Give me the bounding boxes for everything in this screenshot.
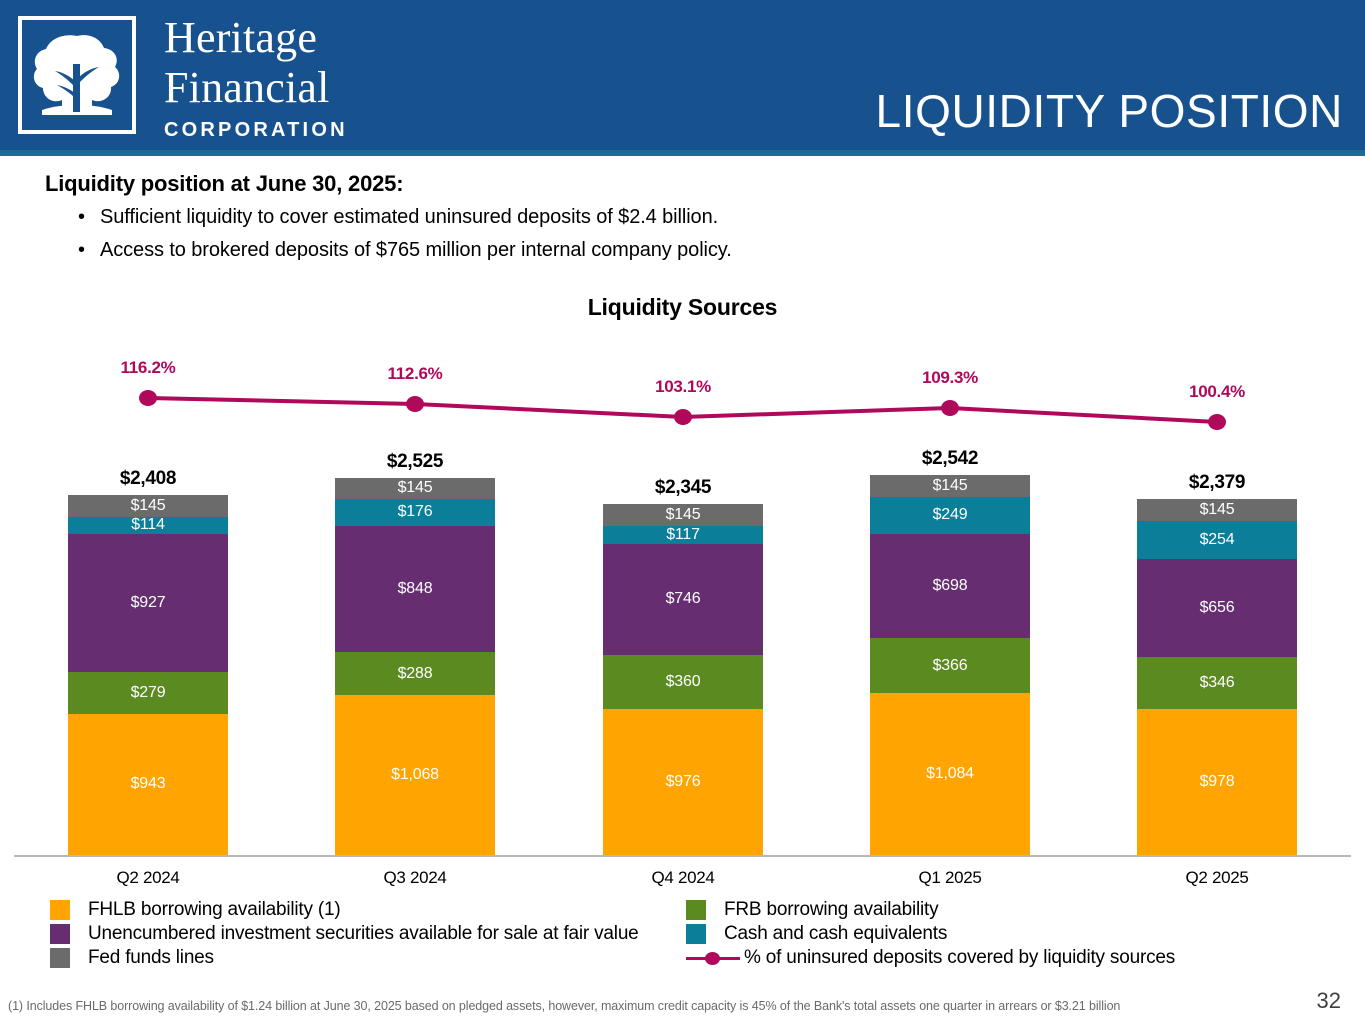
bar-segment[interactable]: $145 [68, 495, 228, 517]
percent-data-label: 109.3% [922, 368, 978, 388]
legend-item[interactable]: Unencumbered investment securities avail… [50, 922, 639, 945]
bar-segment-label: $254 [1200, 531, 1235, 549]
brand-subtitle: CORPORATION [164, 119, 348, 142]
bar-segment[interactable]: $943 [68, 714, 228, 855]
bar-segment-label: $360 [666, 673, 701, 691]
bar-segment[interactable]: $249 [870, 497, 1030, 534]
bar-segment-label: $145 [1200, 501, 1235, 519]
bar-segment[interactable]: $288 [335, 652, 495, 695]
bar-segment[interactable]: $254 [1137, 521, 1297, 559]
bar-segment-label: $279 [131, 684, 166, 702]
bar-segment-label: $746 [666, 590, 701, 608]
x-axis-tick-label: Q4 2024 [593, 868, 773, 888]
page-number: 32 [1317, 988, 1341, 1014]
percent-line-marker[interactable] [674, 409, 692, 425]
legend-item[interactable]: FRB borrowing availability [686, 898, 1175, 921]
percent-line-marker[interactable] [1208, 414, 1226, 430]
bar-total-label: $2,379 [1137, 472, 1297, 494]
bar-stack[interactable]: $2,525$145$176$848$288$1,068 [335, 478, 495, 855]
company-logo: Heritage Financial CORPORATION [18, 16, 348, 142]
bar-segment-label: $848 [398, 580, 433, 598]
bar-total-label: $2,542 [870, 448, 1030, 470]
legend-label: % of uninsured deposits covered by liqui… [744, 946, 1175, 969]
bar-segment[interactable]: $346 [1137, 657, 1297, 709]
page-title: LIQUIDITY POSITION [876, 86, 1343, 136]
brand-line-2: Financial [164, 66, 348, 110]
bar-segment[interactable]: $366 [870, 638, 1030, 693]
bar-segment-label: $145 [666, 506, 701, 524]
bar-segment[interactable]: $698 [870, 534, 1030, 638]
bullet-icon: • [78, 236, 100, 264]
bar-segment-label: $114 [131, 517, 165, 534]
bar-total-label: $2,408 [68, 468, 228, 490]
legend-label: Fed funds lines [88, 946, 214, 969]
list-item: • Access to brokered deposits of $765 mi… [45, 236, 1245, 264]
percent-data-label: 112.6% [388, 364, 443, 384]
x-axis-tick-label: Q2 2024 [58, 868, 238, 888]
x-axis-tick-label: Q3 2024 [325, 868, 505, 888]
legend-label: Cash and cash equivalents [724, 922, 947, 945]
bar-segment-label: $927 [131, 594, 166, 612]
bullet-text: Sufficient liquidity to cover estimated … [100, 203, 718, 231]
bullet-icon: • [78, 203, 100, 231]
legend-swatch-icon [50, 900, 70, 920]
bar-segment-label: $176 [398, 503, 433, 521]
legend-line-marker-icon [686, 948, 740, 968]
bar-segment-label: $943 [131, 775, 166, 793]
bar-segment[interactable]: $145 [1137, 499, 1297, 521]
percent-line-marker[interactable] [941, 400, 959, 416]
bar-segment[interactable]: $656 [1137, 559, 1297, 657]
bar-total-label: $2,525 [335, 451, 495, 473]
bar-segment-label: $249 [933, 506, 968, 524]
bar-segment[interactable]: $117 [603, 526, 763, 543]
bar-stack[interactable]: $2,408$145$114$927$279$943 [68, 495, 228, 855]
bar-segment-label: $698 [933, 577, 968, 595]
legend-swatch-icon [686, 900, 706, 920]
bar-segment-label: $145 [131, 497, 166, 515]
chart-title: Liquidity Sources [0, 294, 1365, 321]
legend-label: FHLB borrowing availability (1) [88, 898, 341, 921]
intro-block: Liquidity position at June 30, 2025: • S… [45, 170, 1245, 264]
brand-line-1: Heritage [164, 16, 348, 60]
percent-line-marker[interactable] [406, 396, 424, 412]
slide-header: Heritage Financial CORPORATION LIQUIDITY… [0, 0, 1365, 156]
bar-stack[interactable]: $2,345$145$117$746$360$976 [603, 504, 763, 855]
legend-column-left: FHLB borrowing availability (1)Unencumbe… [50, 898, 639, 970]
bar-segment-label: $978 [1200, 773, 1235, 791]
bar-segment-label: $1,068 [391, 766, 439, 784]
bar-segment[interactable]: $360 [603, 655, 763, 709]
oak-tree-logo-icon [18, 16, 136, 134]
bar-total-label: $2,345 [603, 477, 763, 499]
percent-data-label: 103.1% [655, 377, 711, 397]
bar-segment-label: $117 [666, 526, 700, 543]
bar-segment[interactable]: $114 [68, 517, 228, 534]
list-item: • Sufficient liquidity to cover estimate… [45, 203, 1245, 231]
percent-data-label: 116.2% [121, 358, 176, 378]
legend-label: FRB borrowing availability [724, 898, 938, 921]
bar-stack[interactable]: $2,379$145$254$656$346$978 [1137, 499, 1297, 855]
bar-segment-label: $288 [398, 665, 433, 683]
bar-segment-label: $1,084 [926, 765, 974, 783]
legend-label: Unencumbered investment securities avail… [88, 922, 639, 945]
legend-swatch-icon [686, 924, 706, 944]
bar-segment[interactable]: $1,068 [335, 695, 495, 855]
percent-data-label: 100.4% [1189, 382, 1245, 402]
header-accent-bar [0, 150, 1365, 156]
bar-segment[interactable]: $1,084 [870, 693, 1030, 855]
bar-segment[interactable]: $145 [335, 478, 495, 500]
x-axis-tick-label: Q2 2025 [1127, 868, 1307, 888]
liquidity-sources-chart: $2,408$145$114$927$279$943Q2 2024$2,525$… [0, 340, 1365, 860]
bar-segment[interactable]: $746 [603, 544, 763, 656]
legend-item[interactable]: FHLB borrowing availability (1) [50, 898, 639, 921]
bar-segment[interactable]: $279 [68, 672, 228, 714]
bar-segment-label: $976 [666, 773, 701, 791]
legend-swatch-icon [50, 948, 70, 968]
legend-column-right: FRB borrowing availabilityCash and cash … [686, 898, 1175, 970]
x-axis-tick-label: Q1 2025 [860, 868, 1040, 888]
bar-segment[interactable]: $848 [335, 526, 495, 653]
footnote: (1) Includes FHLB borrowing availability… [8, 999, 1120, 1013]
intro-heading: Liquidity position at June 30, 2025: [45, 170, 1245, 198]
bar-segment[interactable]: $145 [870, 475, 1030, 497]
bar-segment[interactable]: $976 [603, 709, 763, 855]
bar-segment-label: $346 [1200, 674, 1235, 692]
bar-segment-label: $366 [933, 657, 968, 675]
bar-segment[interactable]: $176 [335, 499, 495, 525]
legend-item[interactable]: Fed funds lines [50, 946, 639, 969]
bar-segment[interactable]: $927 [68, 534, 228, 673]
bar-segment[interactable]: $978 [1137, 709, 1297, 855]
chart-legend: FHLB borrowing availability (1)Unencumbe… [50, 898, 1320, 974]
logo-wordmark: Heritage Financial CORPORATION [164, 16, 348, 142]
bar-stack[interactable]: $2,542$145$249$698$366$1,084 [870, 475, 1030, 855]
bar-segment-label: $145 [398, 479, 433, 497]
bullet-text: Access to brokered deposits of $765 mill… [100, 236, 732, 264]
bar-segment-label: $656 [1200, 599, 1235, 617]
bar-segment-label: $145 [933, 477, 968, 495]
legend-item[interactable]: % of uninsured deposits covered by liqui… [686, 946, 1175, 969]
bar-segment[interactable]: $145 [603, 504, 763, 526]
legend-swatch-icon [50, 924, 70, 944]
legend-item[interactable]: Cash and cash equivalents [686, 922, 1175, 945]
percent-line-marker[interactable] [139, 390, 157, 406]
